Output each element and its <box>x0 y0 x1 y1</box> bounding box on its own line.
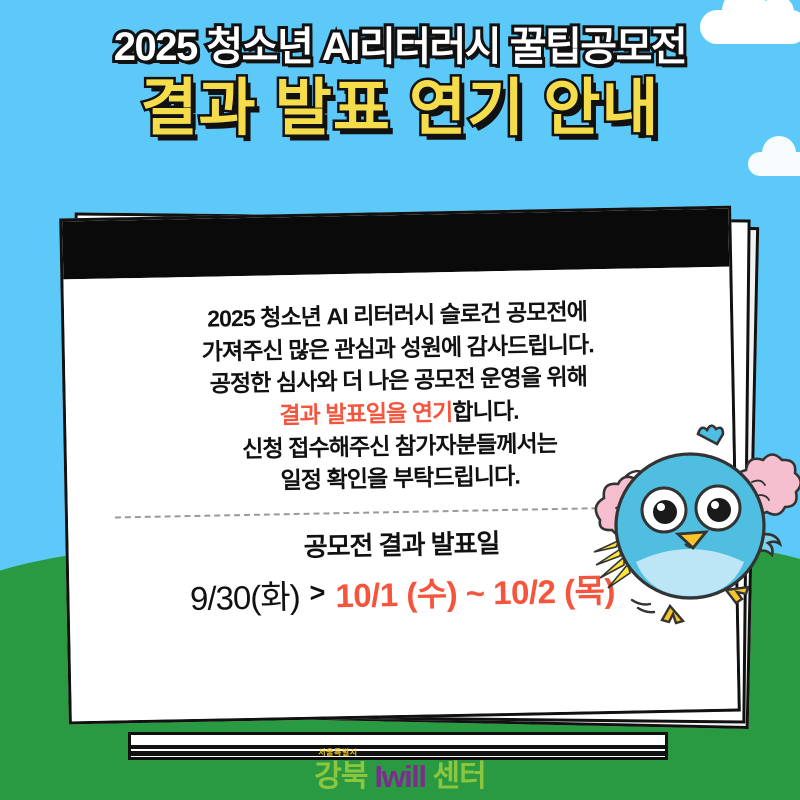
highlight-suffix: 합니다. <box>452 398 519 425</box>
blue-bird-mascot <box>586 424 798 636</box>
logo-brand-text: Iwill <box>374 761 425 792</box>
logo-city-text: 서울특별시 <box>318 747 357 758</box>
poster-title: 2025 청소년 AI리터러시 꿀팁공모전 결과 발표 연기 안내 <box>0 26 800 140</box>
result-date-label: 공모전 결과 발표일 <box>303 523 499 564</box>
highlight-text: 결과 발표일을 연기 <box>279 399 453 428</box>
head-tuft-icon <box>698 426 723 444</box>
cloud-icon <box>748 152 800 176</box>
new-date-value: 10/1 (수) ~ 10/2 (목) <box>335 564 615 617</box>
eye-icon <box>642 488 686 532</box>
title-line-primary: 2025 청소년 AI리터러시 꿀팁공모전 <box>0 26 800 68</box>
paper-stack-edge <box>128 732 668 762</box>
organization-logo: 서울특별시 강북 Iwill 센터 <box>0 761 800 792</box>
eye-icon <box>696 486 740 530</box>
notice-text-block: 2025 청소년 AI 리터러시 슬로건 공모전에 가져주신 많은 관심과 성원… <box>201 295 597 498</box>
date-change-row: 9/30(화) > 10/1 (수) ~ 10/2 (목) <box>190 564 616 620</box>
title-line-secondary: 결과 발표 연기 안내 <box>0 78 800 140</box>
arrow-icon: > <box>309 578 325 609</box>
logo-suffix-text: 센터 <box>433 762 486 792</box>
old-date-value: 9/30(화) <box>190 570 300 620</box>
logo-district-text: 강북 <box>314 762 367 792</box>
